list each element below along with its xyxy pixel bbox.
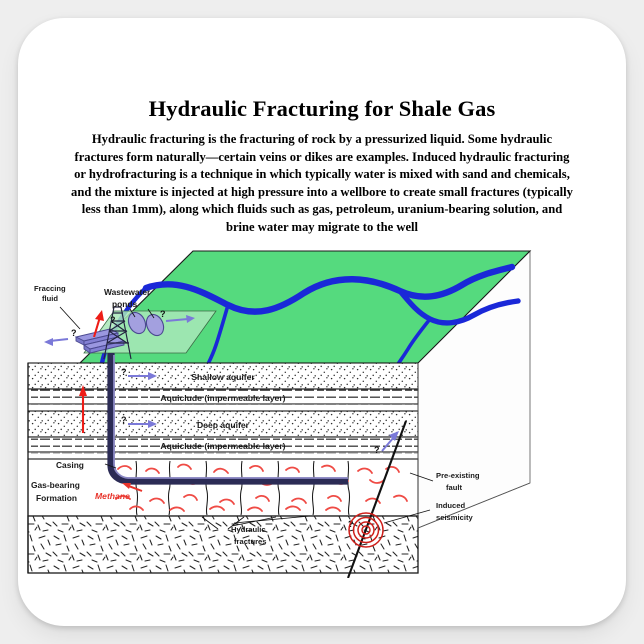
stratum-aquiclude-lower: Aquiclude (impermeable layer) bbox=[28, 437, 418, 459]
question-mark: ? bbox=[71, 328, 77, 338]
stratum-gas-bearing-formation bbox=[28, 459, 418, 516]
stratum-label-aquiclude-upper: Aquiclude (impermeable layer) bbox=[160, 393, 285, 403]
question-mark: ? bbox=[121, 367, 127, 377]
question-mark: ? bbox=[374, 445, 380, 455]
label-hydraulic-fractures-line2: fractures bbox=[234, 537, 267, 546]
question-mark: ? bbox=[110, 315, 116, 325]
label-induced-seismicity-line1: Induced bbox=[436, 501, 465, 510]
label-gas-bearing-line1: Gas-bearing bbox=[31, 480, 80, 490]
stratum-aquiclude-upper: Aquiclude (impermeable layer) bbox=[28, 389, 418, 411]
label-wastewater-ponds-line2: ponds bbox=[112, 299, 137, 309]
hydraulic-fracturing-diagram: Shallow aquifer Aquiclude (impermeable l… bbox=[18, 233, 626, 578]
label-induced-seismicity-line2: seismicity bbox=[436, 513, 474, 522]
label-pre-existing-fault-line2: fault bbox=[446, 483, 463, 492]
label-methane: Methane bbox=[95, 491, 130, 501]
stratum-label-aquiclude-lower: Aquiclude (impermeable layer) bbox=[160, 441, 285, 451]
stratum-label-shallow-aquifer: Shallow aquifer bbox=[191, 372, 255, 382]
question-mark: ? bbox=[121, 415, 127, 425]
label-pre-existing-fault-line1: Pre-existing bbox=[436, 471, 480, 480]
label-fraccing-fluid-line1: Fraccing bbox=[34, 284, 66, 293]
intro-paragraph: Hydraulic fracturing is the fracturing o… bbox=[70, 131, 574, 237]
stratum-label-deep-aquifer: Deep aquifer bbox=[197, 420, 250, 430]
label-fraccing-fluid-line2: fluid bbox=[42, 294, 58, 303]
page-title: Hydraulic Fracturing for Shale Gas bbox=[18, 96, 626, 122]
sticker-card: Hydraulic Fracturing for Shale Gas Hydra… bbox=[18, 18, 626, 626]
label-casing: Casing bbox=[56, 460, 84, 470]
label-wastewater-ponds-line1: Wastewater bbox=[104, 287, 151, 297]
question-mark: ? bbox=[160, 309, 166, 319]
stratum-deep-aquifer: Deep aquifer bbox=[28, 411, 418, 437]
label-gas-bearing-line2: Formation bbox=[36, 493, 77, 503]
label-hydraulic-fractures-line1: Hydraulic bbox=[231, 525, 266, 534]
